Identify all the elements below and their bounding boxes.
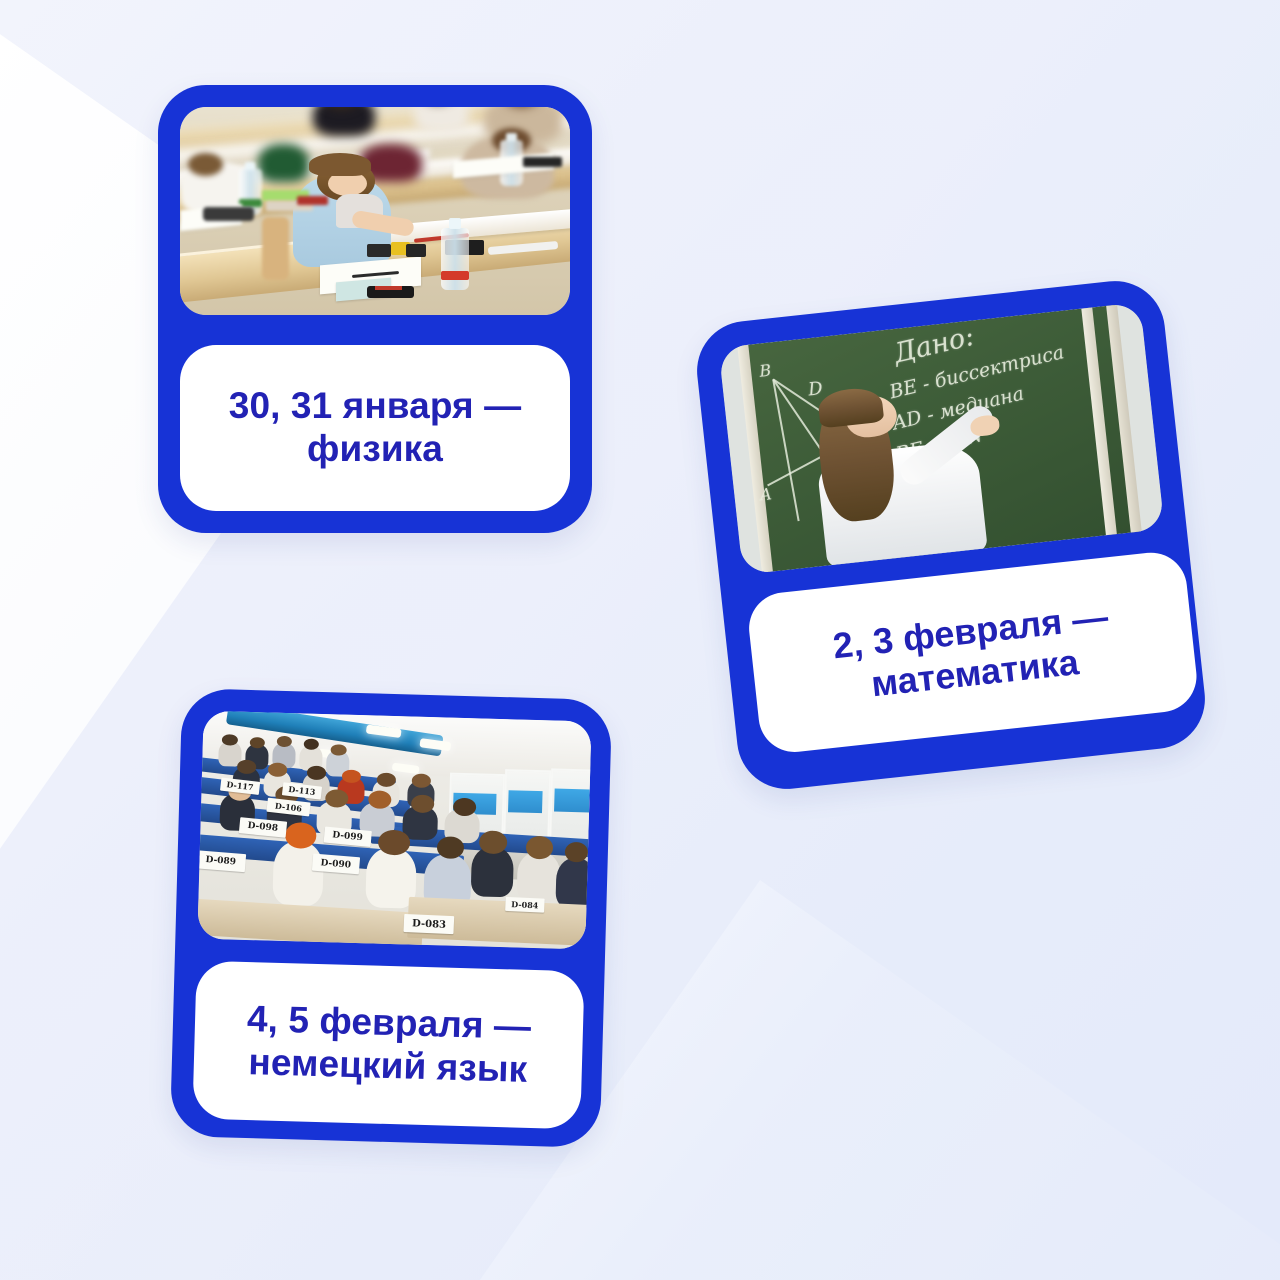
card-physics-photo: Школьники на олимпиаде по физике собираю… xyxy=(180,107,570,315)
card-physics-caption: 30, 31 января — физика xyxy=(180,345,570,511)
card-math-photo: Девушка пишет мелом на зелёной доске гео… xyxy=(718,302,1164,574)
seat-tag-d083: D-083 xyxy=(403,914,454,935)
poster-canvas: Расписание олимпиад Школьники на олимпиа… xyxy=(0,0,1280,1280)
card-german-caption-line1: 4, 5 февраля — xyxy=(246,998,531,1047)
card-math[interactable]: Девушка пишет мелом на зелёной доске гео… xyxy=(692,276,1210,794)
chalk-label-A: A xyxy=(759,485,773,505)
card-german[interactable]: Участники олимпиады в лекционной аудитор… xyxy=(170,688,612,1148)
scene-chalkboard-geometry: B A C D Дано: BE - биссектриса AD - меди… xyxy=(718,302,1164,574)
seat-tag-d084: D-084 xyxy=(505,897,544,912)
chalk-label-D: D xyxy=(807,378,824,400)
card-german-photo: Участники олимпиады в лекционной аудитор… xyxy=(197,711,591,950)
card-math-caption: 2, 3 февраля — математика xyxy=(745,549,1200,756)
card-physics-caption-line1: 30, 31 января — xyxy=(229,385,521,426)
card-german-caption: 4, 5 февраля — немецкий язык xyxy=(192,961,584,1130)
scene-classroom-physics xyxy=(180,107,570,315)
scene-lecture-hall: D-089 D-090 D-098 D-099 D-106 D-083 D-11… xyxy=(197,711,591,950)
card-physics[interactable]: Школьники на олимпиаде по физике собираю… xyxy=(158,85,592,533)
card-german-caption-line2: немецкий язык xyxy=(248,1041,528,1090)
card-physics-caption-line2: физика xyxy=(307,428,443,469)
chalk-label-B: B xyxy=(758,361,772,381)
